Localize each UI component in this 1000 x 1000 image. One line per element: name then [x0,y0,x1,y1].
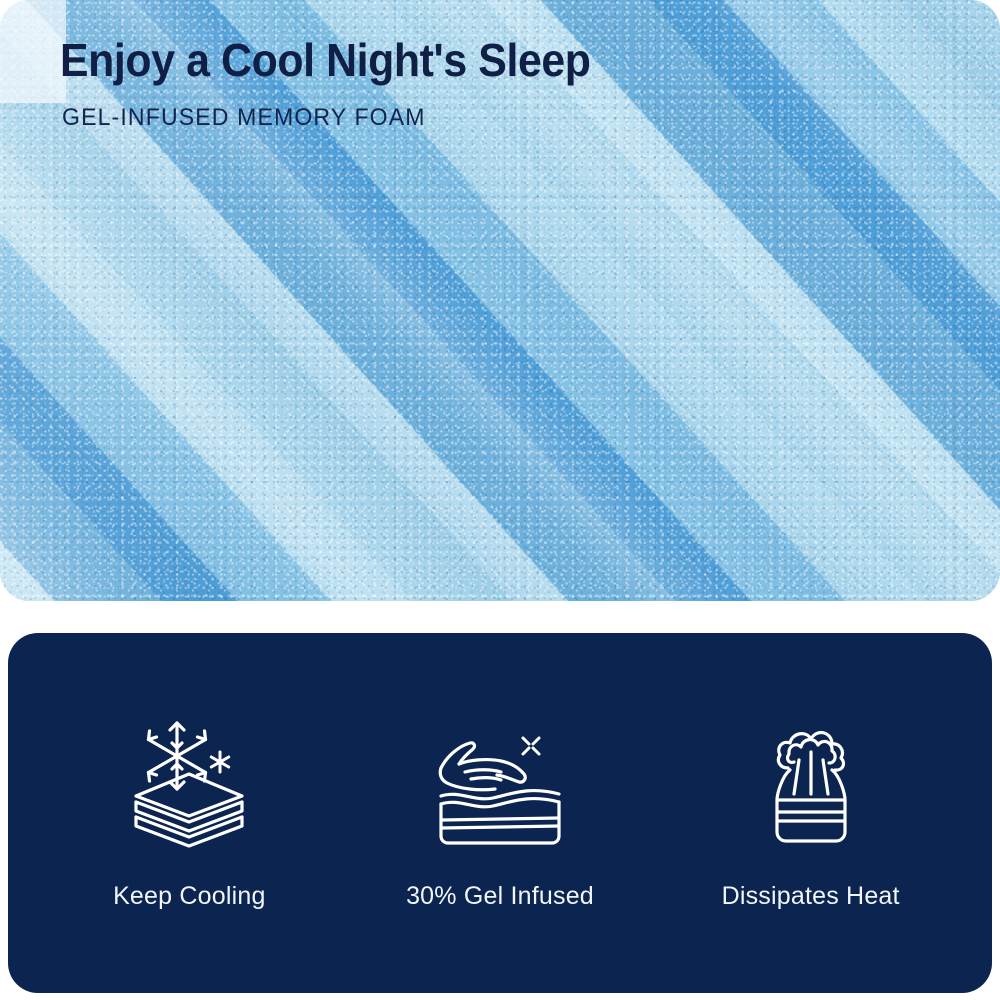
feature-label: Keep Cooling [113,882,266,911]
feature-item-keep-cooling: Keep Cooling [39,716,339,911]
foam-corner-overlay [0,0,66,103]
hero-foam-image: Enjoy a Cool Night's Sleep GEL-INFUSED M… [0,0,1000,601]
hero-text-block: Enjoy a Cool Night's Sleep GEL-INFUSED M… [60,36,631,132]
snowflake-foam-layers-icon [114,716,264,848]
feature-label: 30% Gel Infused [406,882,594,911]
page-title: Enjoy a Cool Night's Sleep [60,36,591,86]
feature-label: Dissipates Heat [722,882,900,911]
hand-pressing-mattress-icon [425,716,575,848]
feature-panel: Keep Cooling [8,633,992,993]
product-feature-banner: Enjoy a Cool Night's Sleep GEL-INFUSED M… [0,0,1000,1000]
heat-cloud-mattress-icon [736,716,886,848]
hero-subtitle: GEL-INFUSED MEMORY FOAM [62,104,608,132]
feature-item-gel-infused: 30% Gel Infused [350,716,650,911]
feature-item-dissipates-heat: Dissipates Heat [661,716,961,911]
feature-list: Keep Cooling [8,633,992,993]
